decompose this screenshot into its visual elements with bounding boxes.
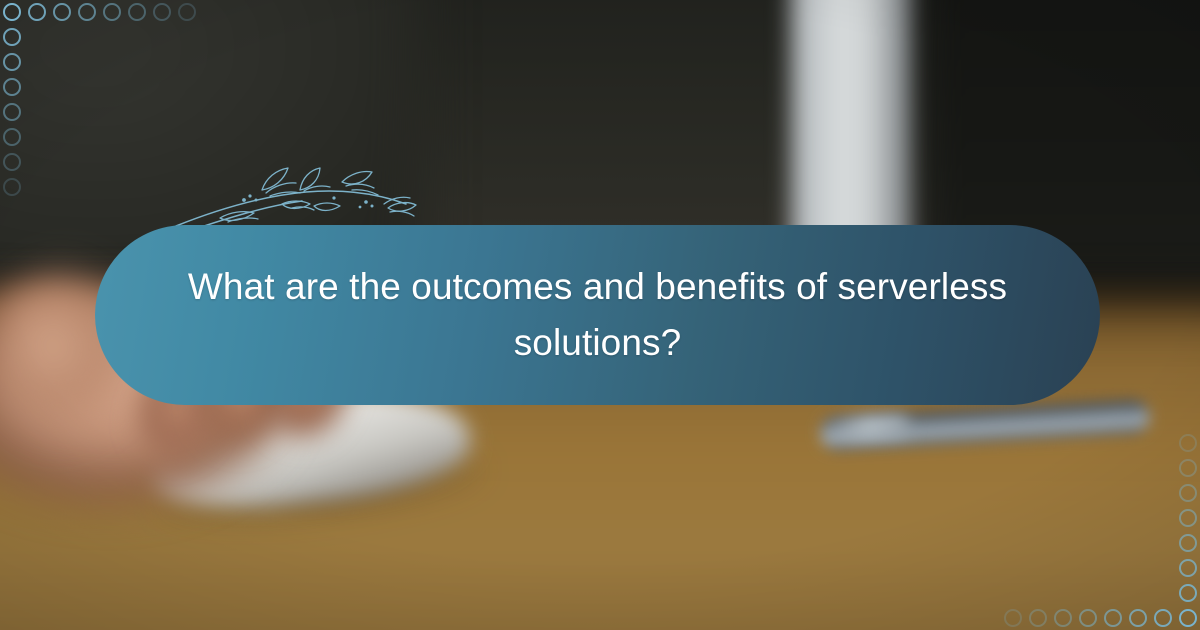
- decor-dot: [1104, 609, 1122, 627]
- decor-dot: [1179, 609, 1197, 627]
- decor-dot: [3, 178, 21, 196]
- decor-dot: [1179, 534, 1197, 552]
- page-title: What are the outcomes and benefits of se…: [158, 259, 1038, 371]
- decor-dot: [1054, 609, 1072, 627]
- decor-dot: [178, 3, 196, 21]
- decor-dot: [3, 153, 21, 171]
- decor-dot: [3, 53, 21, 71]
- decor-dot: [128, 3, 146, 21]
- decor-dot: [3, 3, 21, 21]
- corner-dots-top-left: [0, 0, 230, 210]
- decor-dot: [3, 128, 21, 146]
- decor-dot: [28, 3, 46, 21]
- decor-dot: [103, 3, 121, 21]
- title-banner: What are the outcomes and benefits of se…: [95, 225, 1100, 405]
- decor-dot: [153, 3, 171, 21]
- decor-dot: [1129, 609, 1147, 627]
- decor-dot: [3, 103, 21, 121]
- decor-dot: [1029, 609, 1047, 627]
- decor-dot: [1179, 459, 1197, 477]
- decor-dot: [1179, 559, 1197, 577]
- decor-dot: [3, 78, 21, 96]
- decor-dot: [1179, 584, 1197, 602]
- corner-dots-bottom-right: [970, 420, 1200, 630]
- decor-dot: [78, 3, 96, 21]
- decor-dot: [3, 28, 21, 46]
- share-card: What are the outcomes and benefits of se…: [0, 0, 1200, 630]
- decor-dot: [1154, 609, 1172, 627]
- decor-dot: [53, 3, 71, 21]
- decor-dot: [1179, 484, 1197, 502]
- decor-dot: [1079, 609, 1097, 627]
- decor-dot: [1179, 434, 1197, 452]
- decor-dot: [1004, 609, 1022, 627]
- decor-dot: [1179, 509, 1197, 527]
